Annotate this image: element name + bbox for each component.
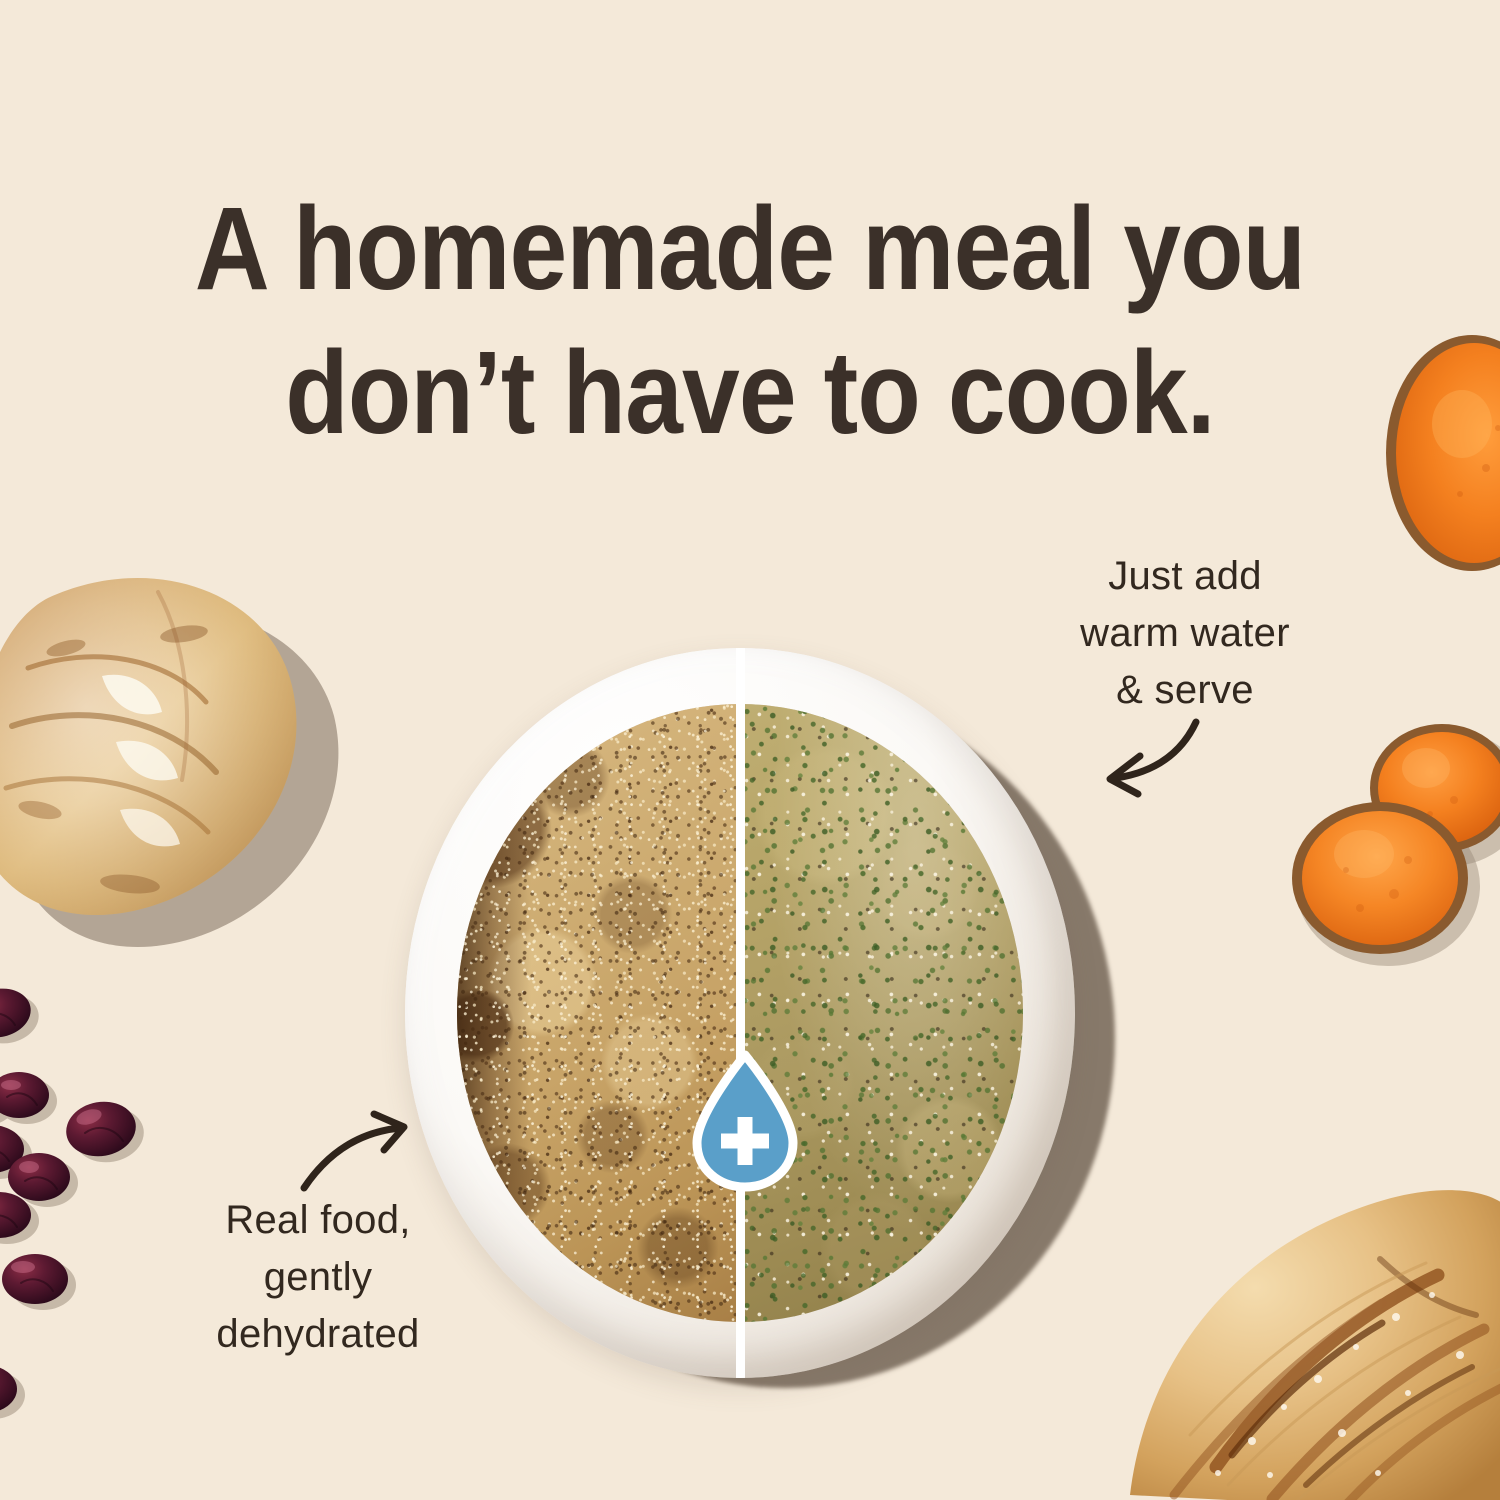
dried-cranberries-image xyxy=(0,965,195,1435)
grilled-chicken-image xyxy=(1120,1155,1500,1500)
sweet-potato-slice-image xyxy=(1398,318,1500,588)
split-divider-line xyxy=(736,648,745,1378)
headline-line-2: don’t have to cook. xyxy=(90,322,1410,466)
gravy-gloss xyxy=(740,704,1023,1322)
rehydrated-food-half xyxy=(740,704,1023,1322)
caption-left-line-2: gently xyxy=(168,1249,468,1306)
curved-arrow-down-left-icon xyxy=(1078,706,1258,806)
split-bowl xyxy=(400,640,1090,1385)
headline-line-1: A homemade meal you xyxy=(195,183,1305,315)
sweet-potato-slices-image xyxy=(1290,690,1500,980)
caption-right-line-2: warm water xyxy=(1020,605,1350,662)
dry-food-half xyxy=(457,704,740,1322)
caption-left-line-1: Real food, xyxy=(168,1192,468,1249)
cod-fillet-image xyxy=(0,480,340,950)
caption-right-line-1: Just add xyxy=(1020,548,1350,605)
caption-just-add-warm-water: Just add warm water & serve xyxy=(1020,548,1350,718)
caption-left-line-3: dehydrated xyxy=(168,1306,468,1363)
ad-canvas: A homemade meal you don’t have to cook. xyxy=(0,0,1500,1500)
bowl-rim xyxy=(405,648,1075,1378)
caption-real-food-gently-dehydrated: Real food, gently dehydrated xyxy=(168,1192,468,1362)
water-drop-plus-icon xyxy=(687,1051,803,1191)
curved-arrow-up-right-icon xyxy=(296,1108,426,1198)
dry-food-crust-edge xyxy=(457,704,531,1322)
page-title: A homemade meal you don’t have to cook. xyxy=(90,178,1410,466)
